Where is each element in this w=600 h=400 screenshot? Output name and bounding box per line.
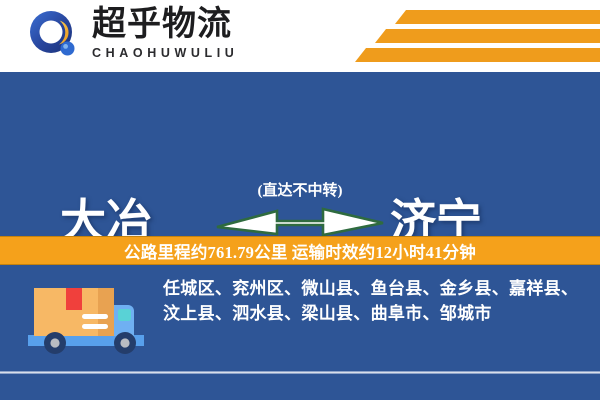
district-line: 任城区、兖州区、微山县、鱼台县、金乡县、嘉祥县、	[163, 277, 583, 302]
bidirectional-arrow-icon	[215, 203, 385, 237]
orange-speed-stripes-icon	[350, 8, 600, 66]
brand-header: 超乎物流 CHAOHUWULIU	[0, 0, 600, 72]
coverage-section: 任城区、兖州区、微山县、鱼台县、金乡县、嘉祥县、 汶上县、泗水县、梁山县、曲阜市…	[0, 265, 600, 372]
covered-districts-list: 任城区、兖州区、微山县、鱼台县、金乡县、嘉祥县、 汶上县、泗水县、梁山县、曲阜市…	[163, 277, 583, 326]
circle-q-logo-icon	[26, 8, 82, 64]
logistics-route-banner: 超乎物流 CHAOHUWULIU 大冶 (直达不中转) 【往返运输】 济宁	[0, 0, 600, 400]
footer-strip	[0, 374, 600, 400]
brand-name-en: CHAOHUWULIU	[92, 45, 292, 61]
district-line: 汶上县、泗水县、梁山县、曲阜市、邹城市	[163, 302, 583, 327]
brand-wordmark: 超乎物流 CHAOHUWULIU	[92, 6, 292, 61]
direct-service-note: (直达不中转)	[215, 182, 385, 201]
brand-name-cn: 超乎物流	[92, 6, 292, 44]
distance-duration-text: 公路里程约761.79公里 运输时效约12小时41分钟	[124, 239, 476, 263]
route-section: 大冶 (直达不中转) 【往返运输】 济宁	[0, 72, 600, 236]
delivery-truck-icon	[26, 281, 146, 359]
distance-duration-bar: 公路里程约761.79公里 运输时效约12小时41分钟	[0, 236, 600, 265]
